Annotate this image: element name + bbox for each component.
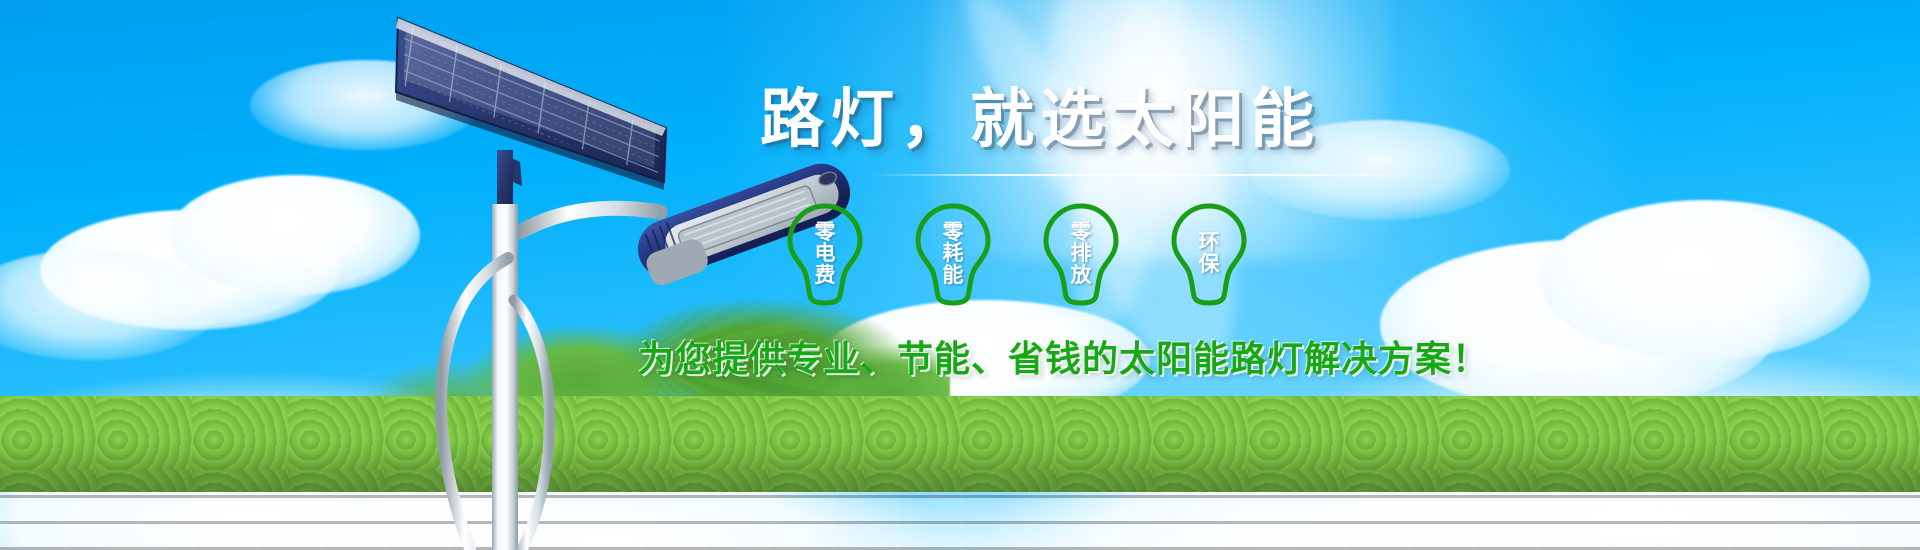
badge-environmental-protection: 环 保 [1166, 202, 1252, 306]
badge-zero-char: 零 [1071, 221, 1092, 243]
feature-badges: 零 电 费 零 耗 能 零 [782, 202, 1520, 306]
badge-word-1: 电 [815, 243, 836, 265]
badge-word-2: 能 [943, 265, 964, 287]
badge-zero-emission: 零 排 放 [1038, 202, 1124, 306]
decorative-curve-right [514, 300, 550, 550]
badge-label: 环 保 [1199, 232, 1220, 276]
banner-copy: 路灯，就选太阳能 零 电 费 零 耗 能 [760, 88, 1520, 382]
badge-zero-electricity-fee: 零 电 费 [782, 202, 868, 306]
badge-word-2: 放 [1071, 265, 1092, 287]
badge-word-1: 耗 [943, 243, 964, 265]
lamp-arm [520, 208, 660, 232]
solar-panel [396, 18, 672, 194]
banner-tagline: 为您提供专业、节能、省钱的太阳能路灯解决方案！ [638, 330, 1520, 382]
page-title: 路灯，就选太阳能 [760, 88, 1520, 152]
badge-word-2: 保 [1199, 254, 1220, 276]
badge-label: 零 排 放 [1071, 221, 1092, 287]
title-divider [870, 174, 1430, 176]
pole-upper-navy [497, 150, 513, 208]
solar-street-light-banner: 路灯，就选太阳能 零 电 费 零 耗 能 [0, 0, 1920, 550]
badge-zero-energy-consumption: 零 耗 能 [910, 202, 996, 306]
badge-zero-char: 零 [815, 221, 836, 243]
badge-label: 零 电 费 [815, 221, 836, 287]
badge-label: 零 耗 能 [943, 221, 964, 287]
badge-word-1: 环 [1199, 232, 1220, 254]
badge-word-1: 排 [1071, 243, 1092, 265]
badge-zero-char: 零 [943, 221, 964, 243]
badge-word-2: 费 [815, 265, 836, 287]
